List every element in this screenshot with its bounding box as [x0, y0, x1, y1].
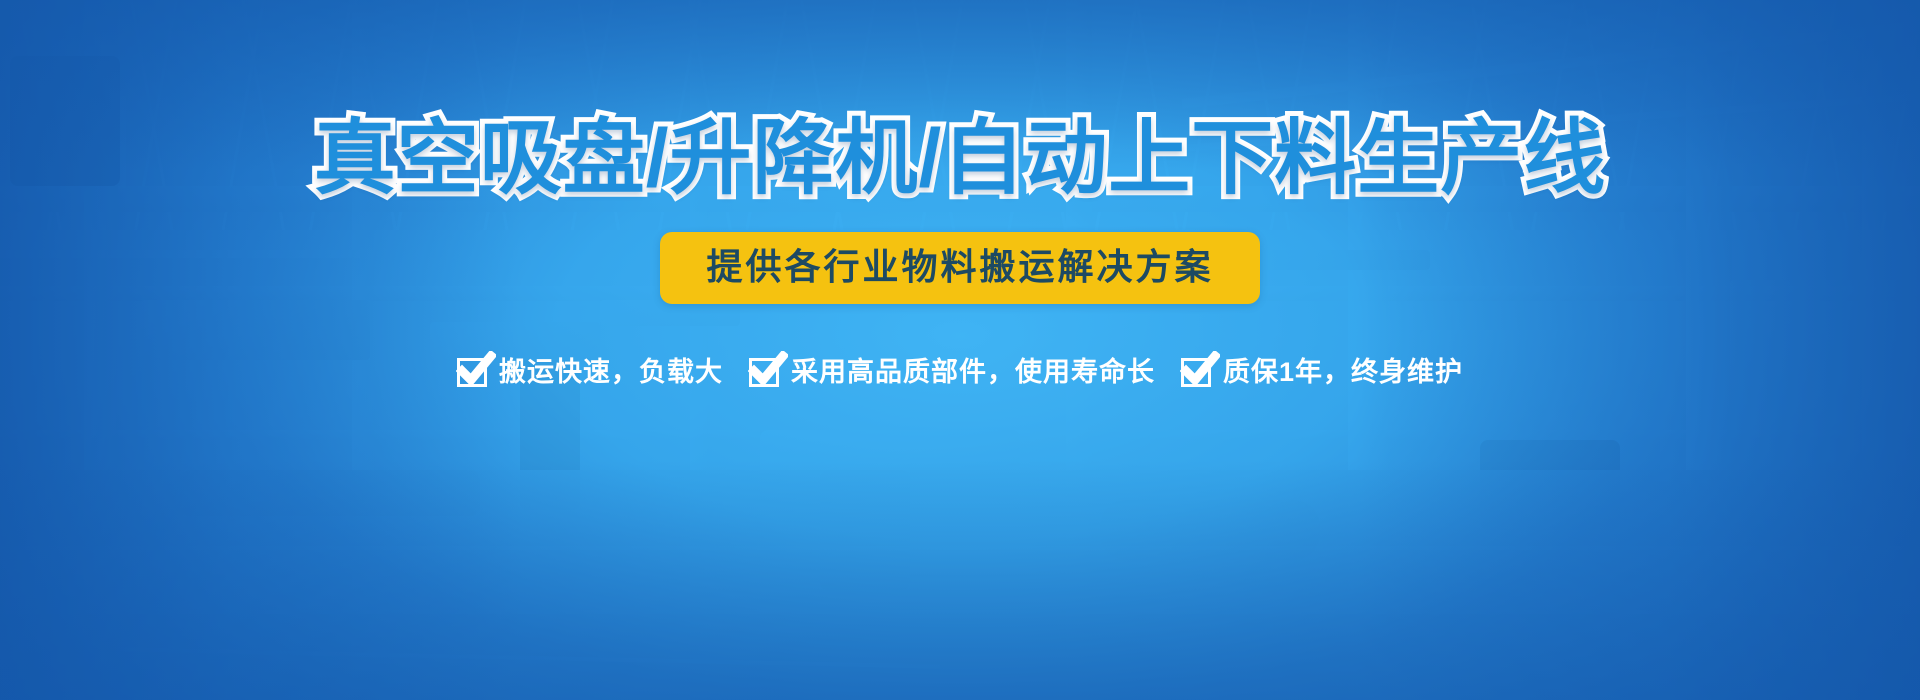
- banner-headline: 真空吸盘/升降机/自动上下料生产线: [314, 118, 1607, 200]
- banner-subtitle-pill: 提供各行业物料搬运解决方案: [660, 232, 1259, 304]
- banner-content: 真空吸盘/升降机/自动上下料生产线 提供各行业物料搬运解决方案 搬运快速，负载大: [0, 0, 1920, 700]
- check-square-icon: [749, 356, 783, 388]
- feature-item: 质保1年，终身维护: [1181, 356, 1463, 388]
- feature-label: 搬运快速，负载大: [499, 359, 723, 386]
- check-square-icon: [1181, 356, 1215, 388]
- check-square-icon: [457, 356, 491, 388]
- feature-item: 搬运快速，负载大: [457, 356, 723, 388]
- promo-banner: 真空吸盘/升降机/自动上下料生产线 提供各行业物料搬运解决方案 搬运快速，负载大: [0, 0, 1920, 700]
- feature-list: 搬运快速，负载大 采用高品质部件，使用寿命长 质保1: [457, 356, 1463, 388]
- feature-label: 质保1年，终身维护: [1223, 359, 1463, 386]
- feature-label: 采用高品质部件，使用寿命长: [791, 359, 1155, 386]
- feature-item: 采用高品质部件，使用寿命长: [749, 356, 1155, 388]
